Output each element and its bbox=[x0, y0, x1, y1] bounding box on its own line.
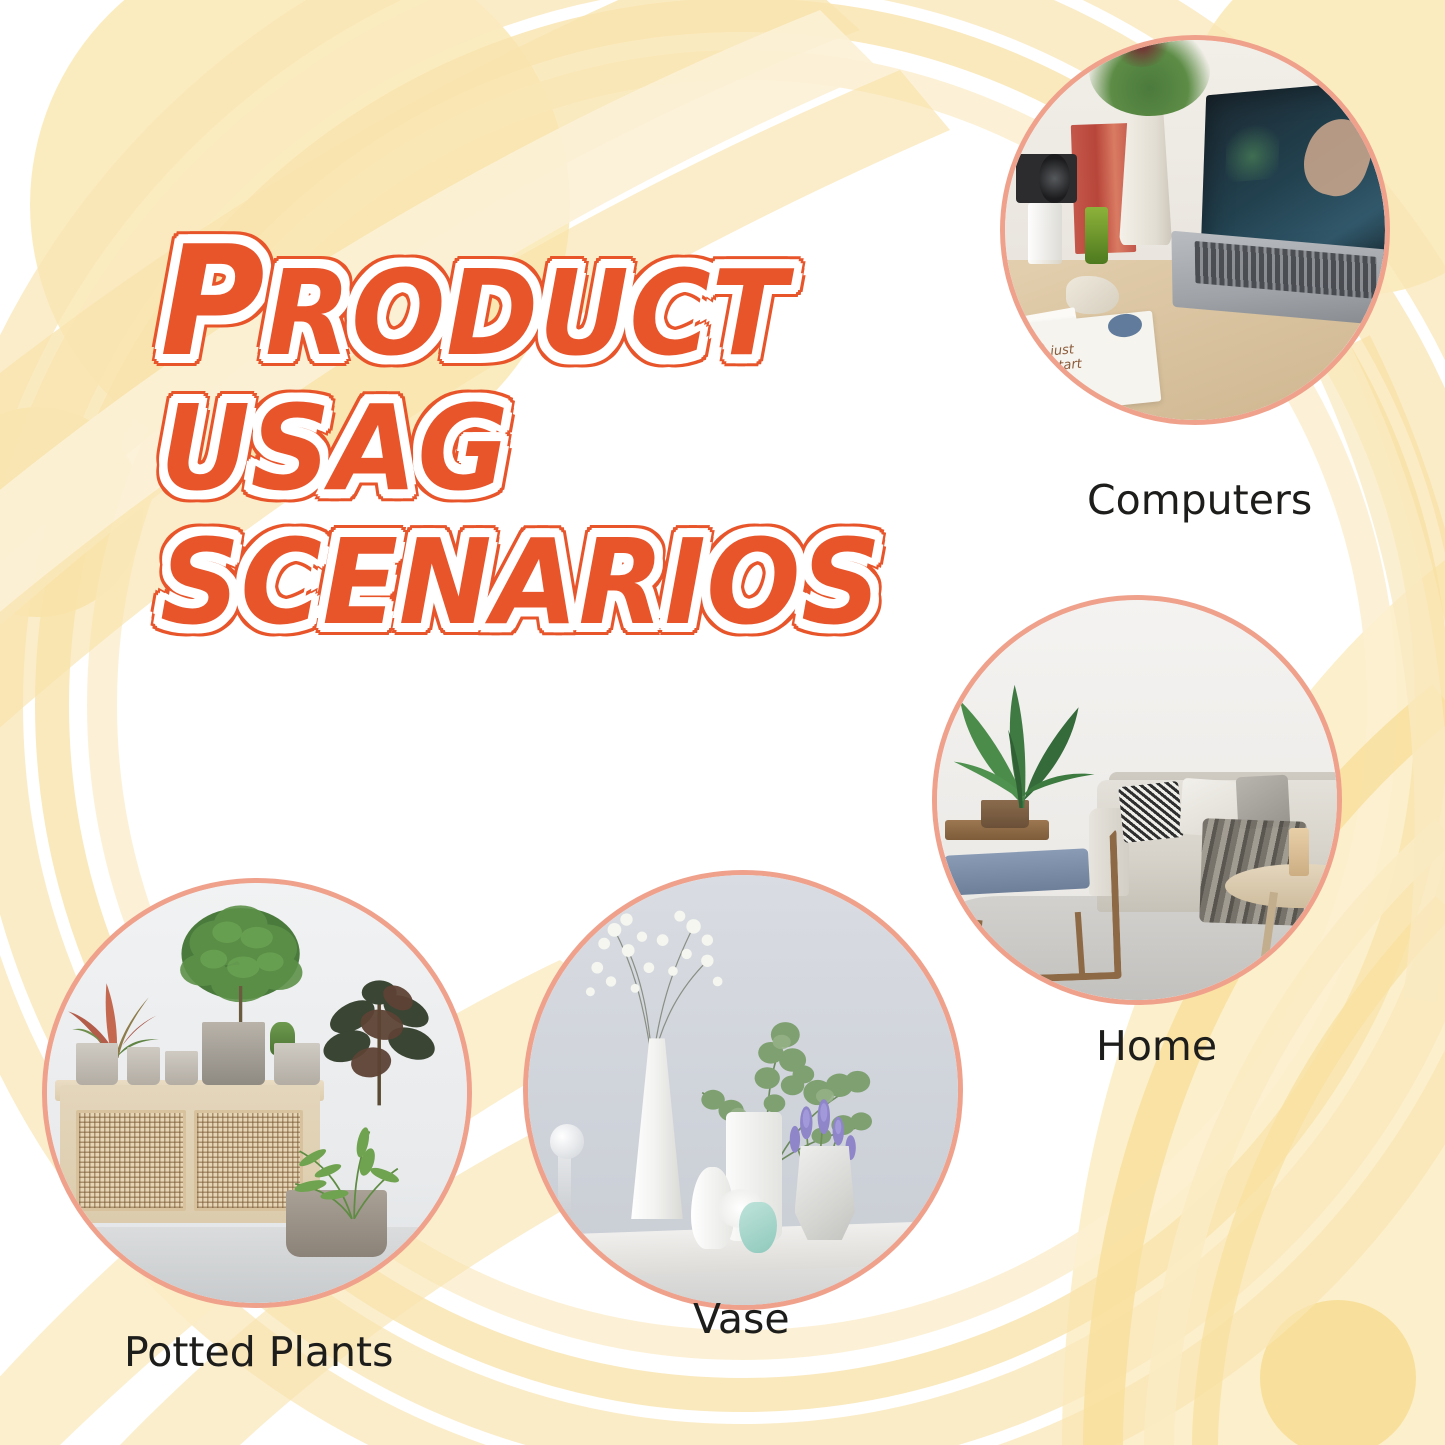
chair-cushion bbox=[944, 848, 1090, 895]
title-line-3: SCENARIOS bbox=[160, 525, 874, 641]
geometric-vase bbox=[795, 1146, 855, 1241]
tile-label-potted-plants: Potted Plants bbox=[124, 1328, 393, 1376]
notebook-handwriting: just start bbox=[1049, 343, 1082, 375]
banana-plant bbox=[941, 656, 1101, 816]
palm-plant bbox=[274, 1114, 417, 1223]
scene-home bbox=[937, 600, 1337, 1000]
scene-computers: just start bbox=[1005, 40, 1385, 420]
title-line-1-rest: RODUCT bbox=[265, 244, 787, 382]
ficus-leaves-svg bbox=[165, 900, 316, 1034]
pot-a bbox=[76, 1043, 118, 1085]
tile-image-computers[interactable]: just start bbox=[1000, 35, 1390, 425]
pot-c bbox=[165, 1051, 199, 1085]
tile-image-potted-plants[interactable] bbox=[42, 878, 472, 1308]
pot-d-large bbox=[202, 1022, 265, 1085]
title-line-1: PRODUCT bbox=[160, 228, 874, 377]
tile-label-computers: Computers bbox=[1087, 476, 1312, 524]
palm-fronds-svg bbox=[274, 1114, 417, 1223]
cabinet-door-left bbox=[76, 1110, 185, 1211]
pendant-lamp bbox=[1289, 600, 1337, 656]
tile-label-vase: Vase bbox=[693, 1295, 790, 1343]
notebook-handwriting-line-2: start bbox=[1051, 358, 1082, 376]
title-line-2: USAG bbox=[160, 391, 874, 507]
glass-bottle bbox=[1028, 203, 1062, 264]
glass-stand-stem bbox=[558, 1150, 571, 1219]
camera-lens bbox=[1039, 154, 1069, 203]
scene-vase bbox=[528, 875, 958, 1305]
banana-leaves-svg bbox=[941, 656, 1101, 816]
green-bottle bbox=[1085, 207, 1108, 264]
candle bbox=[1289, 828, 1309, 876]
pot-b bbox=[127, 1047, 161, 1085]
pot-e bbox=[274, 1043, 320, 1085]
tile-image-vase[interactable] bbox=[523, 870, 963, 1310]
title-dropcap: P bbox=[160, 213, 265, 390]
scene-potted-plants bbox=[47, 883, 467, 1303]
tile-image-home[interactable] bbox=[932, 595, 1342, 1005]
checkered-cushion bbox=[1118, 781, 1184, 843]
glass-sphere bbox=[550, 1124, 584, 1158]
infographic-canvas: PRODUCT USAG SCENARIOS bbox=[0, 0, 1445, 1445]
tile-label-home: Home bbox=[1096, 1022, 1217, 1070]
dark-rubber-plant bbox=[312, 950, 446, 1126]
floor bbox=[47, 1227, 467, 1303]
dark-leaves-svg bbox=[312, 950, 446, 1126]
page-title: PRODUCT USAG SCENARIOS bbox=[160, 228, 920, 640]
screen-plant-image bbox=[1225, 117, 1280, 183]
ficus-plant bbox=[165, 900, 316, 1034]
screen-figure-image bbox=[1294, 112, 1382, 201]
